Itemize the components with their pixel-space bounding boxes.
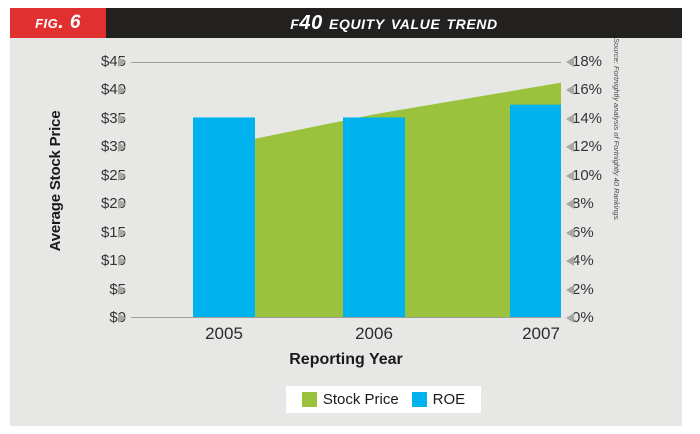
y-axis-left-tick-marker [118, 285, 126, 295]
y-axis-left-tick-marker [118, 313, 126, 323]
legend-swatch-icon [412, 392, 427, 407]
y-axis-right-tick-label: 10% [572, 168, 642, 184]
y-axis-left-tick-label: $15 [56, 225, 126, 241]
y-axis-right-tick-marker [566, 285, 574, 295]
y-axis-left-tick-label: $10 [56, 253, 126, 269]
y-axis-left-tick-marker [118, 256, 126, 266]
series-graphics [131, 62, 561, 318]
chart-title: F40 Equity Value Trend [106, 8, 682, 38]
y-axis-right-tick-marker [566, 85, 574, 95]
x-axis-tick-label: 2006 [314, 324, 434, 344]
roe-bar [343, 117, 405, 318]
x-axis-title: Reporting Year [131, 351, 561, 369]
figure-container: Fig. 6 F40 Equity Value Trend Average St… [0, 0, 700, 434]
y-axis-left-tick-label: $30 [56, 139, 126, 155]
y-axis-right-tick-label: 2% [572, 282, 642, 298]
y-axis-left-tick-marker [118, 142, 126, 152]
y-axis-right-tick-label: 18% [572, 54, 642, 70]
y-axis-left-tick-marker [118, 114, 126, 124]
axis-baseline [131, 317, 561, 318]
legend-item[interactable]: Stock Price [302, 391, 399, 408]
y-axis-right-tick-label: 12% [572, 139, 642, 155]
y-axis-right-tick-marker [566, 256, 574, 266]
legend-swatch-icon [302, 392, 317, 407]
y-axis-right-tick-label: 16% [572, 82, 642, 98]
y-axis-left-tick-label: $35 [56, 111, 126, 127]
y-axis-left-tick-label: $45 [56, 54, 126, 70]
y-axis-left-tick-label: $20 [56, 196, 126, 212]
x-axis-tick-label: 2007 [481, 324, 601, 344]
roe-bar [510, 105, 561, 318]
chart-legend: Stock PriceROE [286, 386, 481, 413]
y-axis-right-tick-marker [566, 142, 574, 152]
y-axis-left-tick-marker [118, 199, 126, 209]
y-axis-left-tick-label: $5 [56, 282, 126, 298]
y-axis-right-tick-label: 4% [572, 253, 642, 269]
legend-label: Stock Price [323, 391, 399, 408]
legend-item[interactable]: ROE [412, 391, 466, 408]
y-axis-right-tick-label: 6% [572, 225, 642, 241]
y-axis-right-tick-marker [566, 171, 574, 181]
x-axis-tick-label: 2005 [164, 324, 284, 344]
y-axis-right-tick-marker [566, 199, 574, 209]
legend-label: ROE [433, 391, 466, 408]
y-axis-left-tick-label: $25 [56, 168, 126, 184]
plot-area [131, 62, 561, 318]
y-axis-left-tick-marker [118, 85, 126, 95]
y-axis-right-tick-marker [566, 313, 574, 323]
figure-number-badge: Fig. 6 [10, 8, 106, 38]
y-axis-left-tick-marker [118, 228, 126, 238]
y-axis-left-tick-label: $40 [56, 82, 126, 98]
y-axis-right-tick-marker [566, 57, 574, 67]
roe-bar [193, 117, 255, 318]
chart-panel: Average Stock Price $0$5$10$15$20$25$30$… [10, 38, 682, 426]
y-axis-left-tick-label: $0 [56, 310, 126, 326]
chart-title-label: F40 Equity Value Trend [290, 12, 497, 35]
source-note: Source: Fortnightly analysis of Fortnigh… [610, 38, 622, 198]
y-axis-left-tick-marker [118, 57, 126, 67]
y-axis-right-tick-label: 14% [572, 111, 642, 127]
y-axis-left-tick-marker [118, 171, 126, 181]
y-axis-right-tick-marker [566, 228, 574, 238]
y-axis-right-tick-marker [566, 114, 574, 124]
figure-number-label: Fig. 6 [35, 8, 81, 38]
figure-header-bar: Fig. 6 F40 Equity Value Trend [10, 8, 682, 38]
y-axis-right-tick-label: 8% [572, 196, 642, 212]
